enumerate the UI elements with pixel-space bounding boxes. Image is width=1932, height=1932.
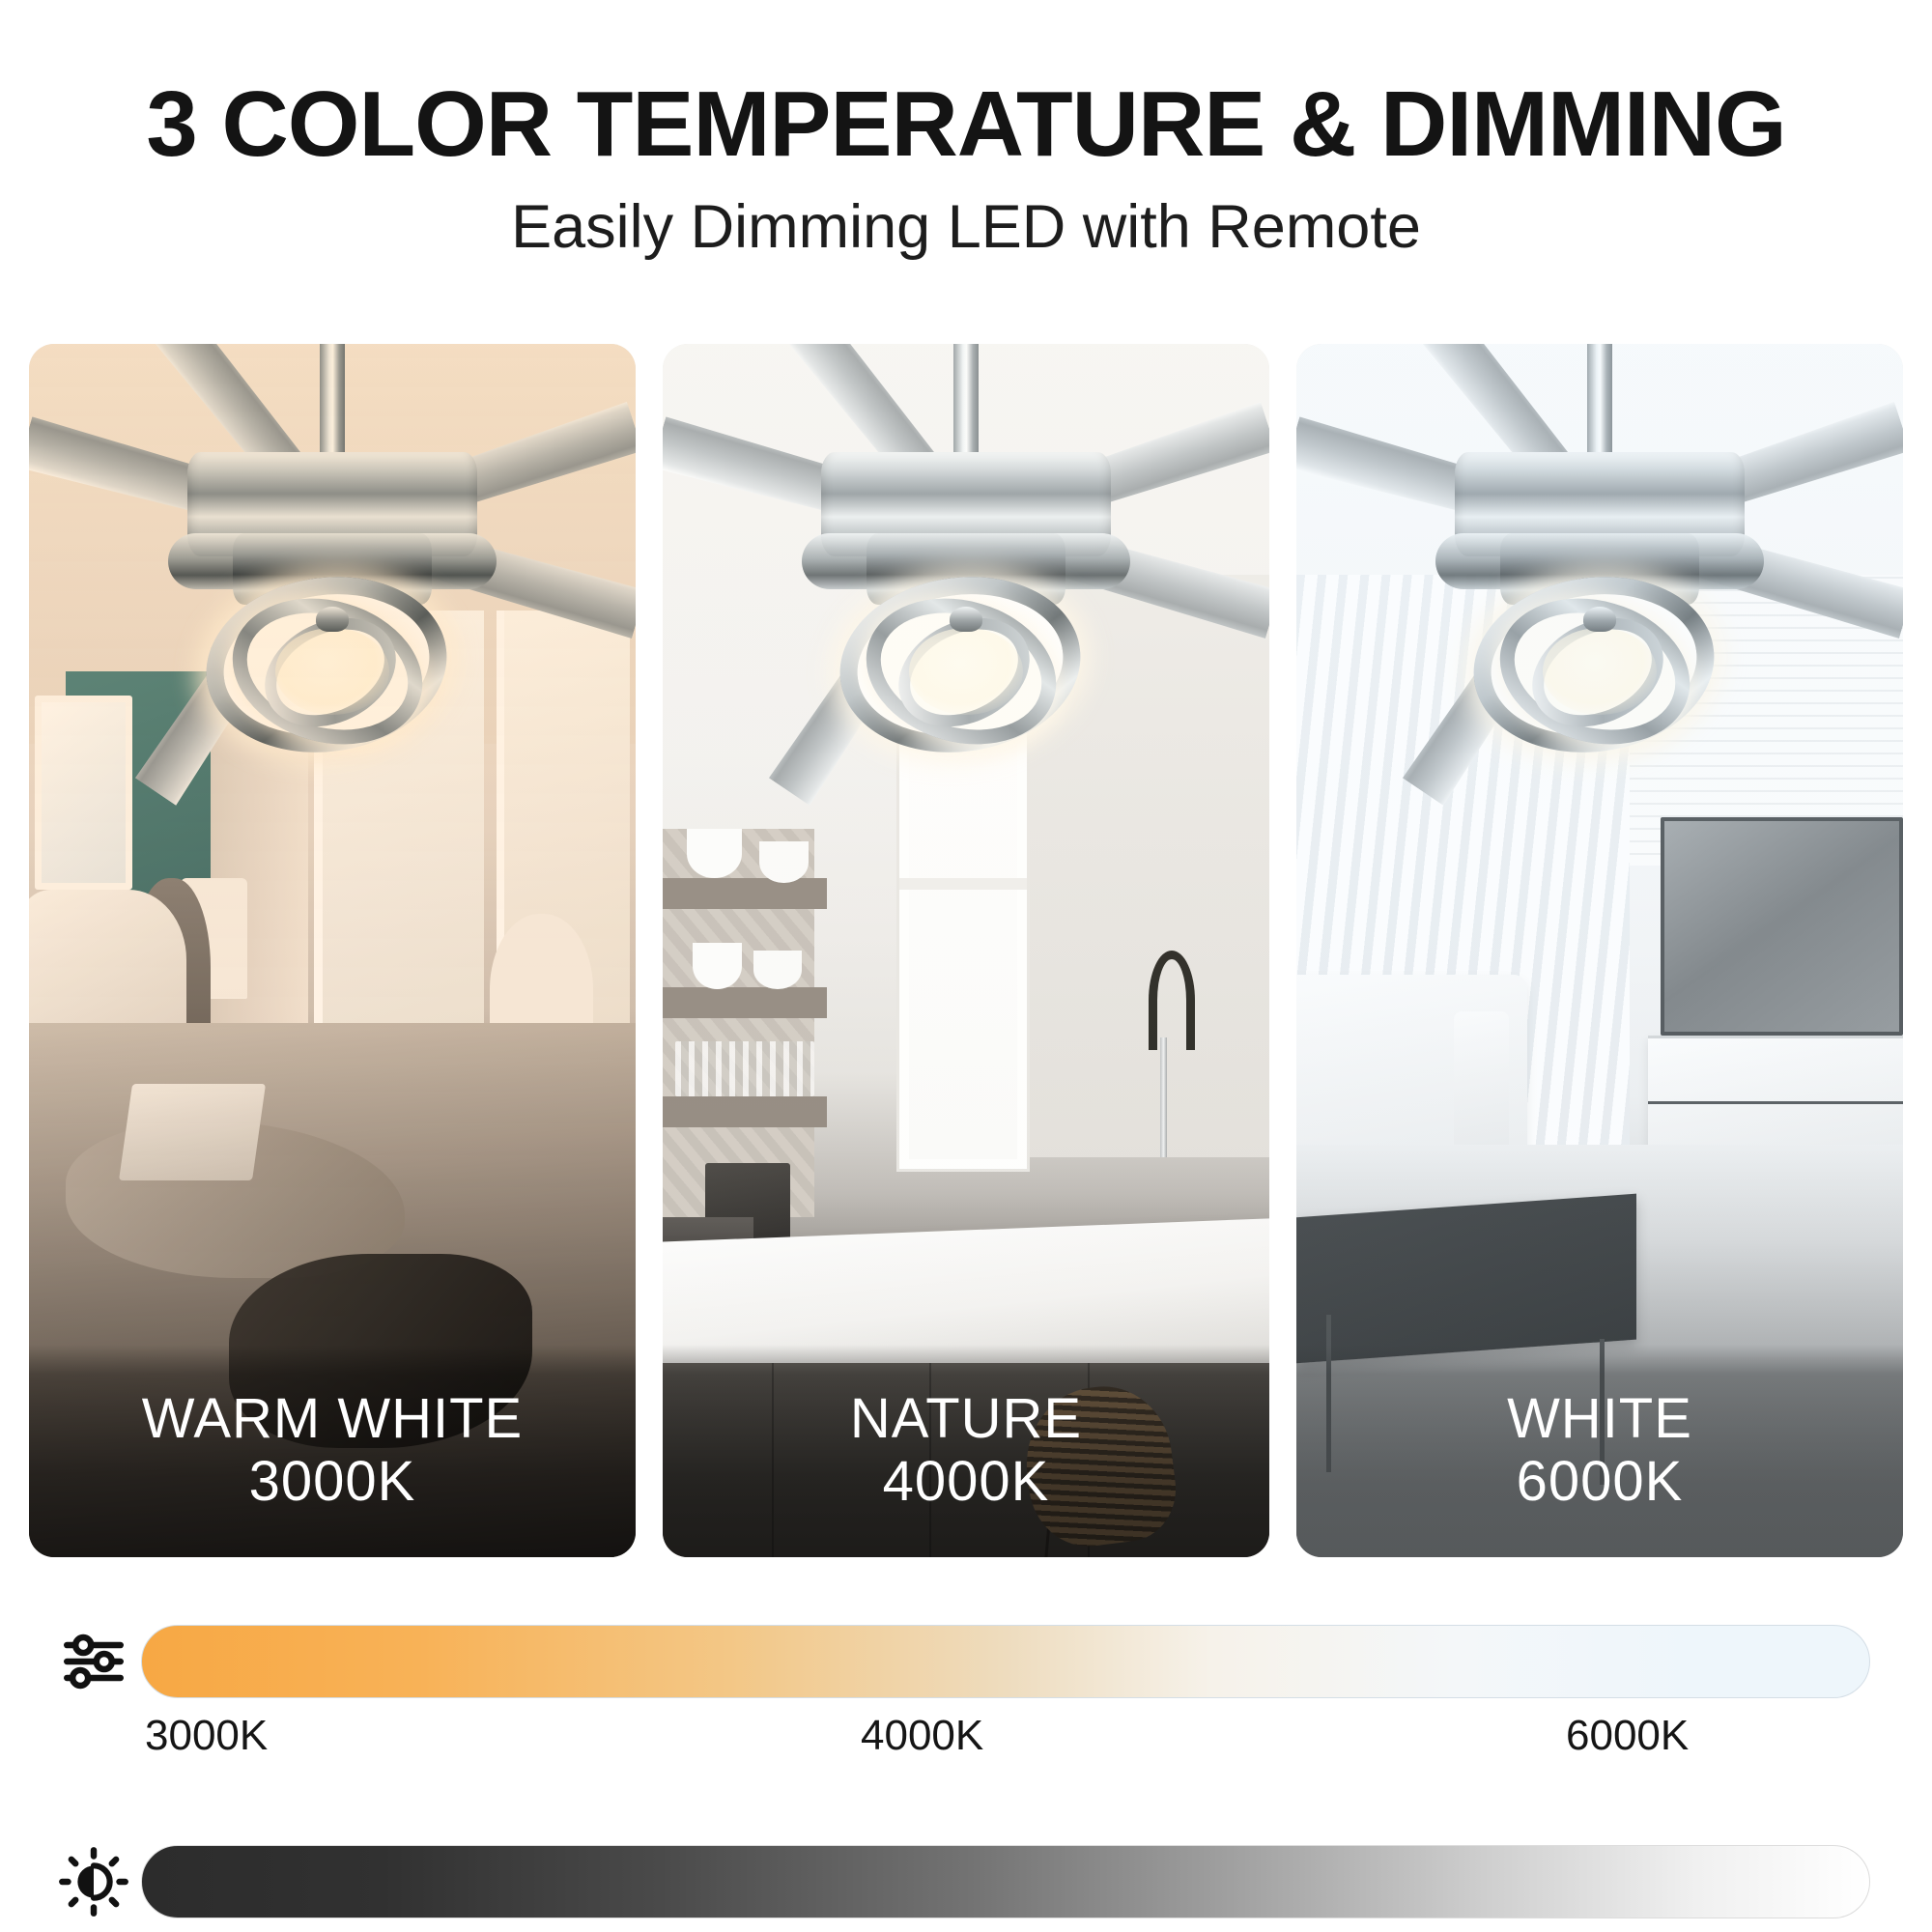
page-title: 3 COLOR TEMPERATURE & DIMMING (0, 75, 1932, 174)
page-subtitle: Easily Dimming LED with Remote (0, 189, 1932, 266)
temperature-slider-row (0, 1611, 1932, 1712)
brightness-half-sun-icon (46, 1846, 141, 1918)
open-shelf (663, 1096, 827, 1128)
tick-3000k: 3000K (145, 1712, 268, 1760)
open-shelf (663, 987, 827, 1019)
tick-6000k: 6000K (1566, 1712, 1689, 1760)
color-temperature-cards: WARM WHITE 3000K (29, 344, 1903, 1557)
window-left (314, 611, 484, 1047)
dimming-slider[interactable] (141, 1845, 1870, 1918)
card-label-overlay: WHITE 6000K (1296, 1345, 1903, 1557)
console-drawer-seam (1648, 1101, 1903, 1104)
dimming-slider-row (0, 1832, 1932, 1932)
wall-corner (211, 647, 307, 1072)
card-label-temperature: 6000K (1517, 1451, 1684, 1514)
sliders-adjust-icon (46, 1626, 141, 1697)
bowl (693, 943, 741, 989)
kitchen-window (899, 635, 1027, 1169)
tick-4000k: 4000K (861, 1712, 983, 1760)
wine-glasses (675, 1041, 814, 1096)
bowl (687, 829, 742, 877)
kitchen-faucet (1142, 951, 1184, 1157)
card-label-name: NATURE (850, 1388, 1082, 1451)
mirror (35, 696, 131, 890)
card-label-overlay: WARM WHITE 3000K (29, 1345, 636, 1557)
card-label-name: WHITE (1507, 1388, 1692, 1451)
card-label-overlay: NATURE 4000K (663, 1345, 1269, 1557)
card-label-name: WARM WHITE (142, 1388, 523, 1451)
bowl (759, 841, 808, 883)
card-label-temperature: 4000K (883, 1451, 1050, 1514)
heading-block: 3 COLOR TEMPERATURE & DIMMING Easily Dim… (0, 0, 1932, 266)
open-shelf (663, 878, 827, 910)
card-label-temperature: 3000K (249, 1451, 416, 1514)
infographic-page: 3 COLOR TEMPERATURE & DIMMING Easily Dim… (0, 0, 1932, 1932)
card-nature[interactable]: NATURE 4000K (663, 344, 1269, 1557)
television (1661, 817, 1903, 1036)
card-warm-white[interactable]: WARM WHITE 3000K (29, 344, 636, 1557)
color-temperature-slider[interactable] (141, 1625, 1870, 1698)
glass-coffee-table (1296, 1193, 1636, 1362)
laptop (119, 1084, 266, 1180)
temperature-tick-labels: 3000K 4000K 6000K (141, 1712, 1870, 1772)
slider-section: 3000K 4000K 6000K (0, 1611, 1932, 1932)
window-sash-bar (899, 878, 1027, 891)
card-white[interactable]: WHITE 6000K (1296, 344, 1903, 1557)
